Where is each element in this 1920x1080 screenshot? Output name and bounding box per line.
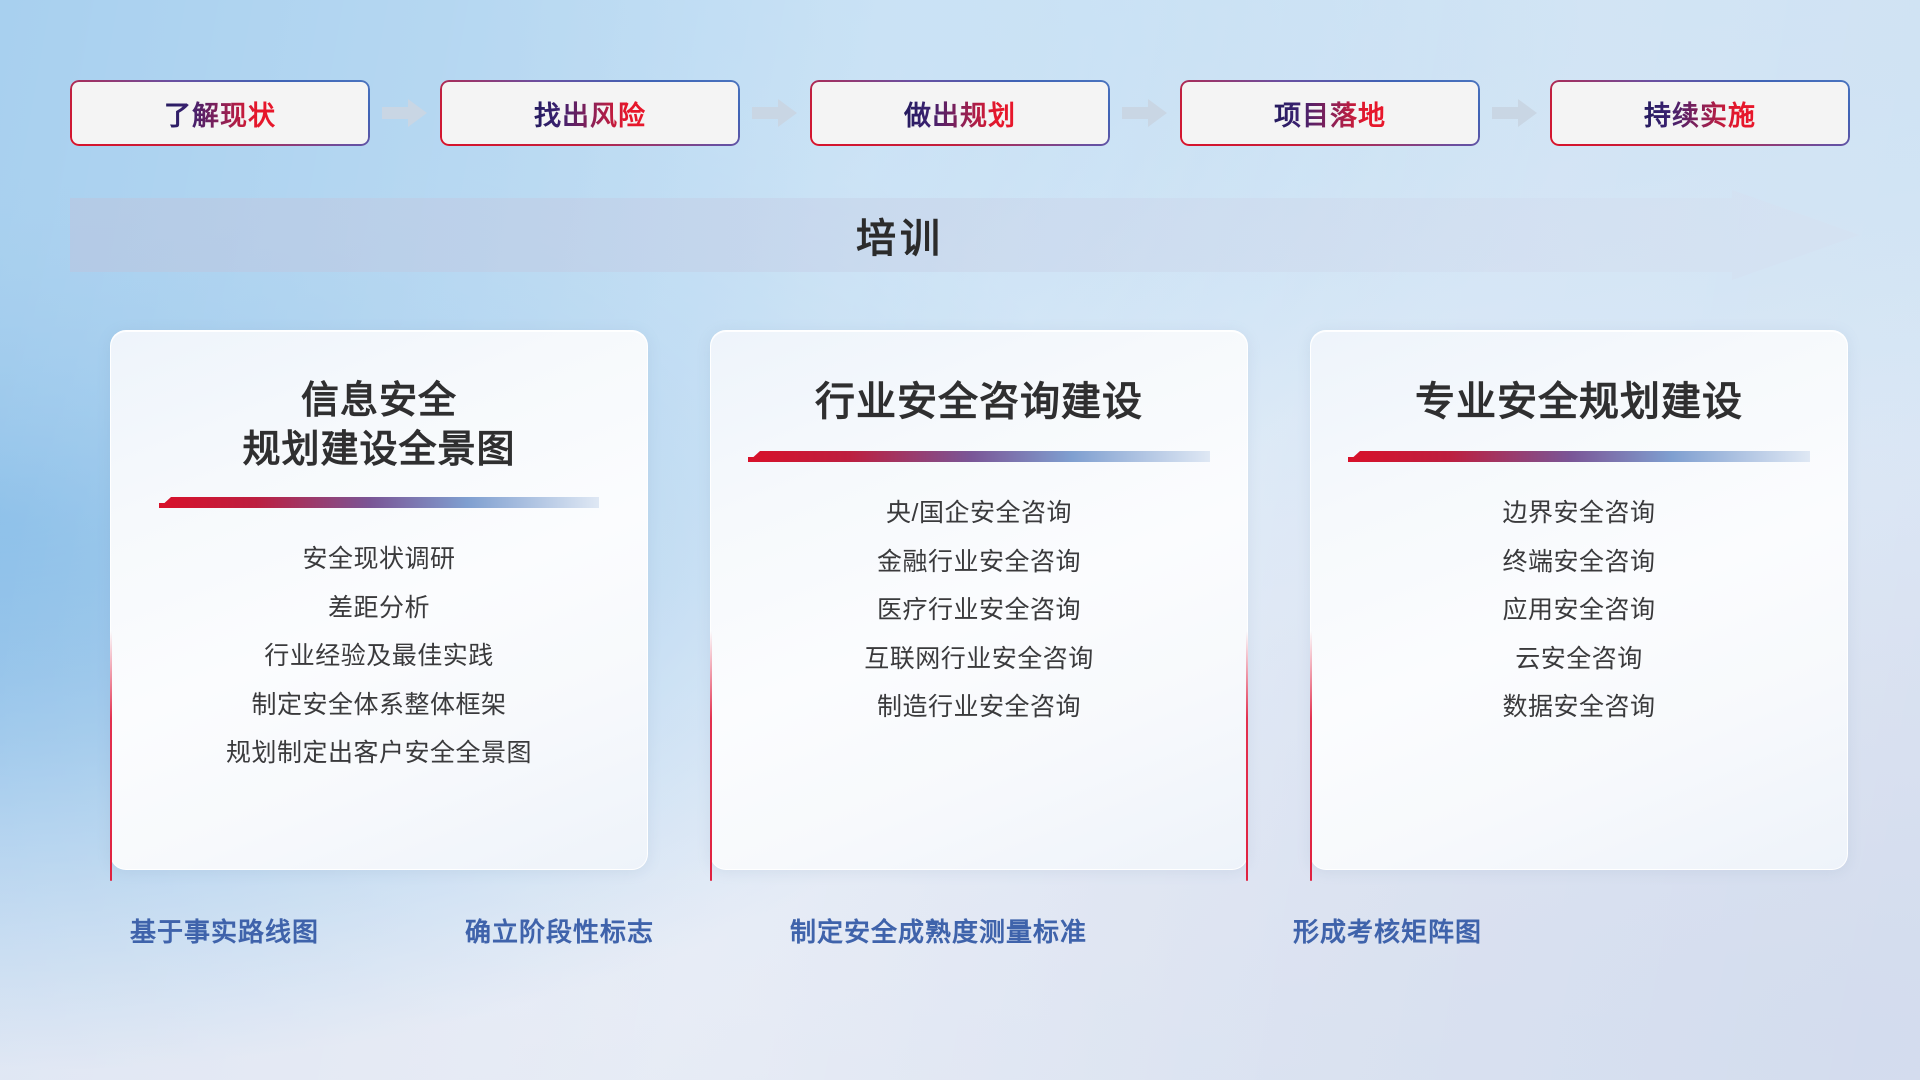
banner-title: 培训	[70, 190, 1730, 280]
list-item: 央/国企安全咨询	[886, 497, 1072, 530]
card-title: 行业安全咨询建设	[745, 377, 1213, 428]
bottom-label-row: 基于事实路线图 确立阶段性标志 制定安全成熟度测量标准 形成考核矩阵图	[0, 912, 1920, 962]
list-item: 云安全咨询	[1515, 643, 1643, 676]
service-card-group: 信息安全 规划建设全景图 安全现状调研 差距分析 行业经验及	[110, 330, 1850, 870]
card-divider-1	[159, 496, 599, 509]
step-arrow-icon-4	[1480, 80, 1550, 146]
list-item: 医疗行业安全咨询	[877, 594, 1081, 627]
list-item: 应用安全咨询	[1502, 594, 1655, 627]
card-divider-2	[748, 450, 1210, 463]
card-accent-left	[110, 631, 112, 881]
service-card-3[interactable]: 专业安全规划建设 边界安全咨询 终端安全咨询 应用安全咨询	[1310, 330, 1848, 870]
step-label: 做出规划	[904, 94, 1016, 133]
list-item: 终端安全咨询	[1502, 546, 1655, 579]
step-label: 项目落地	[1274, 94, 1386, 133]
step-box-1[interactable]: 了解现状	[70, 80, 370, 146]
step-arrow-icon-1	[370, 80, 440, 146]
list-item: 规划制定出客户安全全景图	[226, 737, 532, 770]
list-item: 互联网行业安全咨询	[864, 643, 1094, 676]
step-box-2[interactable]: 找出风险	[440, 80, 740, 146]
step-arrow-icon-2	[740, 80, 810, 146]
service-card-2[interactable]: 行业安全咨询建设 央/国企安全咨询 金融行业安全咨询 医疗行	[710, 330, 1248, 870]
card-title: 信息安全 规划建设全景图	[145, 377, 613, 474]
training-banner: 培训	[70, 190, 1860, 280]
bottom-label-1: 基于事实路线图	[130, 912, 319, 949]
process-step-row: 了解现状 找出风险 做出规划 项目落地 持续实施	[70, 78, 1850, 148]
step-box-3[interactable]: 做出规划	[810, 80, 1110, 146]
card-list-2: 央/国企安全咨询 金融行业安全咨询 医疗行业安全咨询 互联网行业安全咨询 制造行…	[745, 497, 1213, 724]
step-box-4[interactable]: 项目落地	[1180, 80, 1480, 146]
list-item: 行业经验及最佳实践	[264, 640, 494, 673]
bottom-label-3: 制定安全成熟度测量标准	[790, 912, 1087, 949]
service-card-1[interactable]: 信息安全 规划建设全景图 安全现状调研 差距分析 行业经验及	[110, 330, 648, 870]
card-accent-left	[710, 631, 712, 881]
card-divider-3	[1348, 450, 1810, 463]
card-list-3: 边界安全咨询 终端安全咨询 应用安全咨询 云安全咨询 数据安全咨询	[1345, 497, 1813, 724]
list-item: 差距分析	[328, 592, 430, 625]
step-label: 找出风险	[534, 94, 646, 133]
card-title: 专业安全规划建设	[1345, 377, 1813, 428]
card-accent-left	[1310, 631, 1312, 881]
step-arrow-icon-3	[1110, 80, 1180, 146]
bottom-label-4: 形成考核矩阵图	[1293, 912, 1482, 949]
list-item: 制造行业安全咨询	[877, 691, 1081, 724]
list-item: 数据安全咨询	[1502, 691, 1655, 724]
card-accent-right	[1246, 631, 1248, 881]
list-item: 制定安全体系整体框架	[251, 689, 506, 722]
step-label: 持续实施	[1644, 94, 1756, 133]
list-item: 金融行业安全咨询	[877, 546, 1081, 579]
card-list-1: 安全现状调研 差距分析 行业经验及最佳实践 制定安全体系整体框架 规划制定出客户…	[145, 543, 613, 770]
step-box-5[interactable]: 持续实施	[1550, 80, 1850, 146]
bottom-label-2: 确立阶段性标志	[465, 912, 654, 949]
list-item: 安全现状调研	[302, 543, 455, 576]
step-label: 了解现状	[164, 94, 276, 133]
list-item: 边界安全咨询	[1502, 497, 1655, 530]
